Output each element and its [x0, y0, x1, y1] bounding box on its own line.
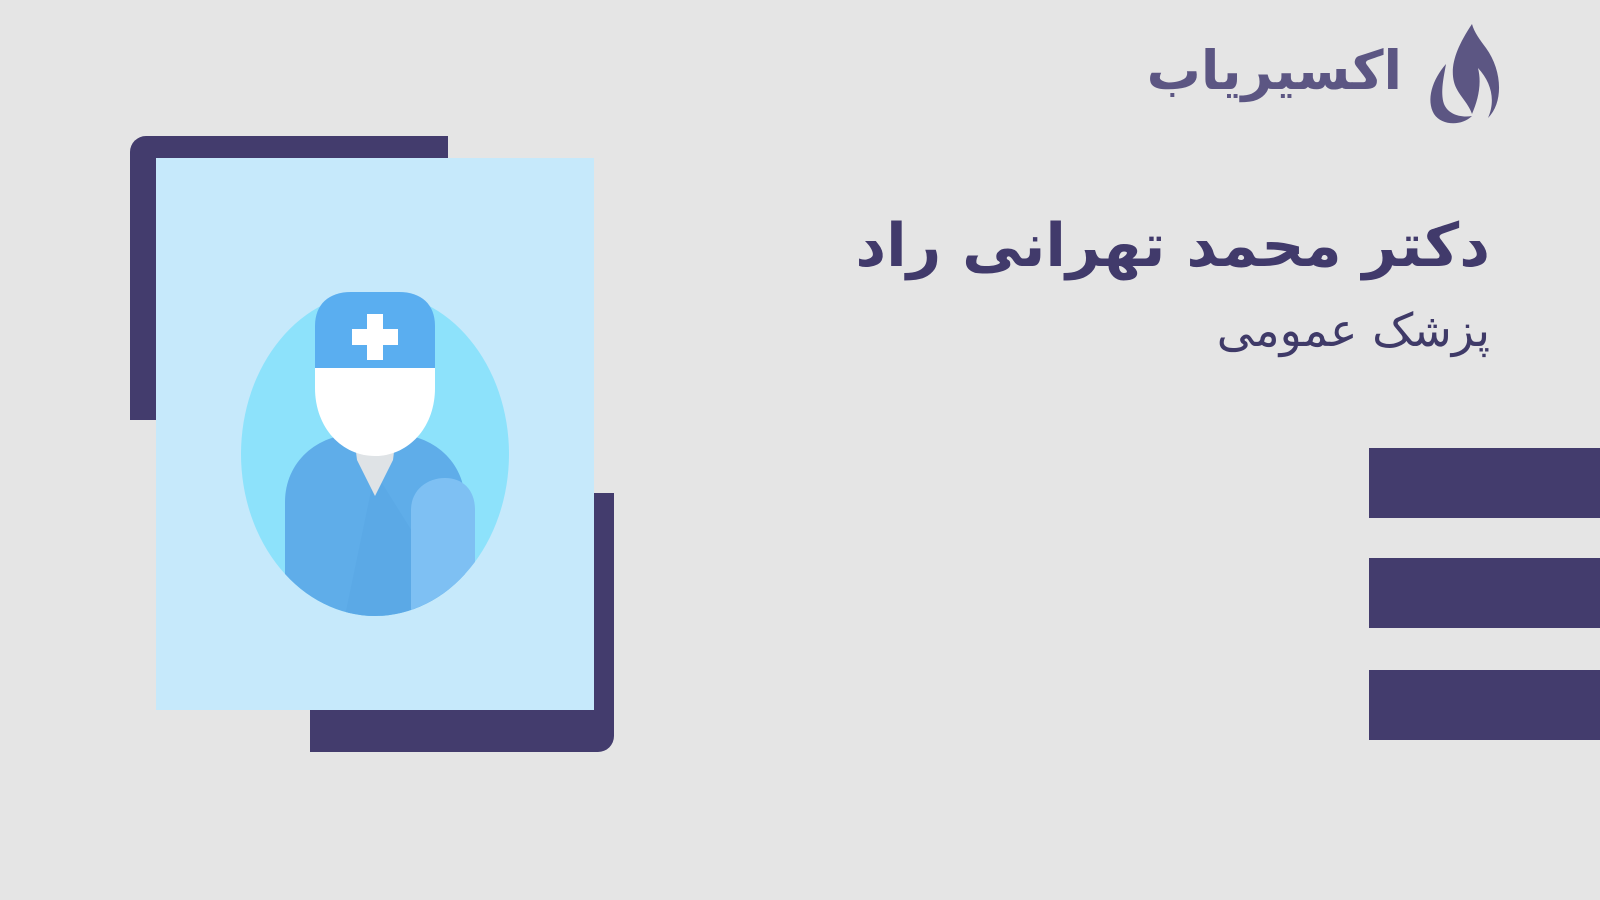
- avatar-arm: [411, 478, 475, 616]
- page-title: دکتر محمد تهرانی راد: [730, 212, 1490, 281]
- doctor-photo-card: [156, 158, 594, 710]
- doctor-avatar-icon: [241, 292, 509, 616]
- decor-bar-3: [1369, 670, 1600, 740]
- brand-name: اکسیریاب: [1147, 44, 1402, 104]
- doctor-illustration: [130, 136, 630, 756]
- doctor-specialty: پزشک عمومی: [730, 303, 1490, 358]
- decorative-bar-stack: [1369, 448, 1600, 740]
- decor-bar-1: [1369, 448, 1600, 518]
- flame-icon: [1416, 22, 1500, 126]
- brand-logo[interactable]: اکسیریاب: [1147, 22, 1500, 126]
- doctor-profile-banner: اکسیریاب دکتر محمد تهرانی راد پزشک عمومی: [0, 0, 1600, 900]
- decor-bar-2: [1369, 558, 1600, 628]
- headline-block: دکتر محمد تهرانی راد پزشک عمومی: [730, 212, 1490, 358]
